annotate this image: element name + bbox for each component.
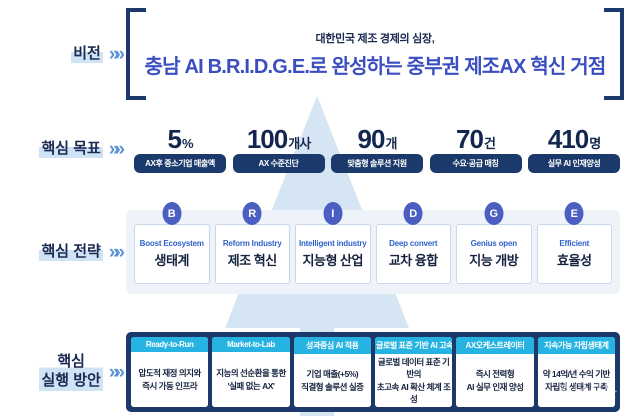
vision-row: 비전 »» 대한민국 제조 경제의 심장, 충남 AI B.R.I.D.G.E.… [0, 6, 634, 102]
strategy-korean-label: 생태계 [155, 250, 189, 269]
goal-label: 맞춤형 솔루션 지원 [331, 154, 423, 173]
goal-number: 70건 [456, 126, 495, 152]
goals-row-label: 핵심 목표 [39, 140, 102, 159]
goal-item: 100개사 AX 수준진단 [233, 126, 325, 173]
action-card-header: 지속가능 자립생태계 [538, 337, 615, 354]
actions-list: Ready-to-Run 압도적 재정 의지와 즉시 가동 인프라 Market… [126, 332, 620, 412]
strategy-list: B Boost Ecosystem 생태계 R Reform Industry … [126, 210, 620, 294]
goal-unit: 개사 [288, 136, 310, 151]
action-card-body: 즉시 전력형 AI 실무 인재 양성 [456, 354, 533, 407]
goal-item: 70건 수요·공급 매칭 [430, 126, 522, 173]
goal-item: 410명 실무 AI 인재양성 [528, 126, 620, 173]
actions-row-label-wrap: 핵심 실행 방안 »» [0, 353, 126, 391]
strategy-badge-icon: G [484, 202, 503, 225]
chevron-double-right-icon: »» [109, 45, 120, 64]
strategy-korean-label: 지능형 산업 [303, 250, 363, 269]
strategy-row-label: 핵심 전략 [39, 243, 102, 262]
action-card-body: 약 14억/년 수익 기반 자립형 생태계 구축 [538, 354, 615, 407]
strategy-korean-label: 효율성 [557, 250, 591, 269]
goal-unit: 명 [589, 136, 600, 151]
goal-number: 90개 [358, 126, 397, 152]
action-card-body: 압도적 재정 의지와 즉시 가동 인프라 [131, 352, 208, 407]
goals-row-label-wrap: 핵심 목표 »» [0, 140, 126, 159]
action-card: 지속가능 자립생태계 약 14억/년 수익 기반 자립형 생태계 구축 [538, 337, 615, 407]
chevron-double-right-icon: »» [109, 140, 120, 159]
vision-row-label-wrap: 비전 »» [0, 45, 126, 64]
goal-item: 5% AX후 중소기업 매출액 [134, 126, 226, 173]
action-card-body: 지능의 선순환을 통한 '실패 없는 AX' [212, 352, 289, 407]
strategy-english-label: Genius open [471, 239, 517, 248]
strategy-english-label: Intelligent industry [299, 239, 367, 248]
action-card: AX오케스트레이터 즉시 전력형 AI 실무 인재 양성 [456, 337, 533, 407]
goals-row: 핵심 목표 »» 5% AX후 중소기업 매출액 100개사 AX 수준진단 9… [0, 118, 634, 180]
strategy-english-label: Boost Ecosystem [140, 239, 204, 248]
action-card-header: 성과중심 AI 적용 [294, 337, 371, 354]
chevron-double-right-icon: »» [109, 243, 120, 262]
strategy-english-label: Efficient [559, 239, 589, 248]
strategy-row-label-wrap: 핵심 전략 »» [0, 243, 126, 262]
goal-unit: 개 [385, 136, 396, 151]
strategy-badge-icon: B [162, 202, 181, 225]
actions-row-label: 핵심 실행 방안 [39, 353, 102, 391]
goal-label: AX 수준진단 [233, 154, 325, 173]
strategy-card-b: B Boost Ecosystem 생태계 [134, 224, 210, 284]
bracket-right-icon [604, 8, 624, 100]
goal-number: 410명 [548, 126, 600, 152]
strategy-card-g: G Genius open 지능 개방 [456, 224, 532, 284]
goal-label: 실무 AI 인재양성 [528, 154, 620, 173]
strategy-badge-icon: E [565, 202, 584, 225]
strategy-korean-label: 지능 개방 [469, 250, 518, 269]
strategy-badge-icon: R [243, 202, 262, 225]
vision-row-label: 비전 [71, 45, 103, 64]
goal-value: 100 [247, 124, 287, 154]
strategy-badge-icon: D [404, 202, 423, 225]
action-card-header: 글로벌 표준 기반 AI 고속도로 [375, 337, 452, 354]
strategy-english-label: Deep convert [389, 239, 437, 248]
goal-label: AX후 중소기업 매출액 [134, 154, 226, 173]
goals-list: 5% AX후 중소기업 매출액 100개사 AX 수준진단 90개 맞춤형 솔루… [126, 126, 634, 173]
goal-number: 5% [167, 126, 192, 152]
action-card-header: AX오케스트레이터 [456, 337, 533, 354]
goal-item: 90개 맞춤형 솔루션 지원 [331, 126, 423, 173]
chevron-double-right-icon: »» [109, 363, 120, 382]
action-card: 성과중심 AI 적용 기업 매출(+5%) 직결형 솔루션 실증 [294, 337, 371, 407]
vision-bracket-panel: 대한민국 제조 경제의 심장, 충남 AI B.R.I.D.G.E.로 완성하는… [126, 8, 624, 100]
strategy-badge-icon: I [323, 202, 342, 225]
action-card-header: Ready-to-Run [131, 337, 208, 352]
strategy-card-d: D Deep convert 교차 융합 [376, 224, 452, 284]
bracket-left-icon [126, 8, 146, 100]
action-card: Ready-to-Run 압도적 재정 의지와 즉시 가동 인프라 [131, 337, 208, 407]
vision-subtitle: 대한민국 제조 경제의 심장, [315, 30, 434, 46]
strategy-row: 핵심 전략 »» B Boost Ecosystem 생태계 R Reform … [0, 206, 634, 298]
actions-row: 핵심 실행 방안 »» Ready-to-Run 압도적 재정 의지와 즉시 가… [0, 330, 634, 414]
vision-title: 충남 AI B.R.I.D.G.E.로 완성하는 중부권 제조AX 혁신 거점 [144, 50, 605, 79]
strategy-korean-label: 제조 혁신 [228, 250, 277, 269]
goal-value: 410 [548, 124, 588, 154]
infographic-page: 비전 »» 대한민국 제조 경제의 심장, 충남 AI B.R.I.D.G.E.… [0, 0, 634, 419]
goal-value: 5 [167, 124, 180, 154]
goal-number: 100개사 [247, 126, 310, 152]
action-card-body: 글로벌 데이터 표준 기반의 초고속 AI 확산 체계 조성 [375, 354, 452, 407]
strategy-card-i: I Intelligent industry 지능형 산업 [295, 224, 371, 284]
goal-value: 90 [358, 124, 385, 154]
action-card-header: Market-to-Lab [212, 337, 289, 352]
strategy-card-e: E Efficient 효율성 [537, 224, 613, 284]
action-card: 글로벌 표준 기반 AI 고속도로 글로벌 데이터 표준 기반의 초고속 AI … [375, 337, 452, 407]
goal-value: 70 [456, 124, 483, 154]
strategy-english-label: Reform Industry [223, 239, 282, 248]
action-card: Market-to-Lab 지능의 선순환을 통한 '실패 없는 AX' [212, 337, 289, 407]
goal-unit: % [182, 136, 193, 151]
strategy-card-r: R Reform Industry 제조 혁신 [215, 224, 291, 284]
goal-unit: 건 [484, 136, 495, 151]
action-card-body: 기업 매출(+5%) 직결형 솔루션 실증 [294, 354, 371, 407]
goal-label: 수요·공급 매칭 [430, 154, 522, 173]
strategy-korean-label: 교차 융합 [389, 250, 438, 269]
